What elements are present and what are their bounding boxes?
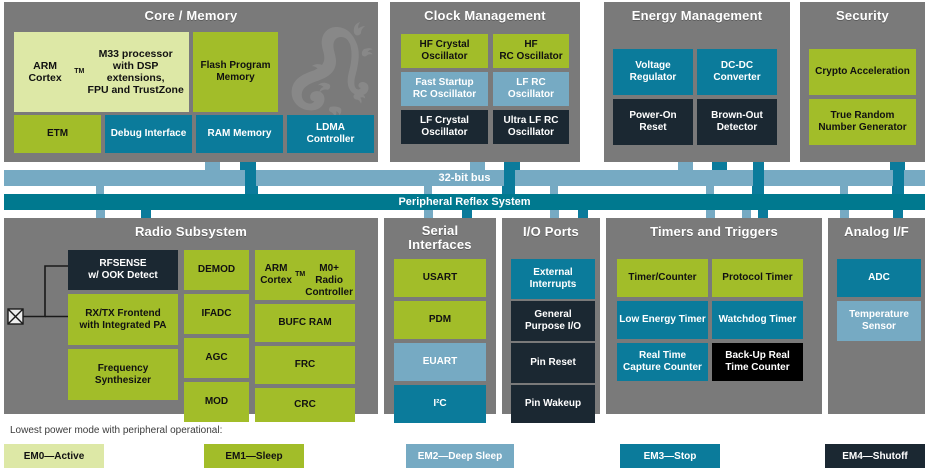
panel-title-serial-interfaces: Serial Interfaces xyxy=(384,224,496,252)
block-lf-rc-oscillator: LF RC Oscillator xyxy=(493,72,569,106)
bus-32-bit-label: 32-bit bus xyxy=(439,172,491,184)
bus-stub-analog-2 xyxy=(893,210,903,218)
block-mod: MOD xyxy=(184,382,249,422)
bus-stub-radio-1 xyxy=(96,210,105,218)
bus-peripheral-reflex-system: Peripheral Reflex System xyxy=(4,194,925,210)
block-usart: USART xyxy=(394,259,486,297)
block-debug-interface: Debug Interface xyxy=(105,115,192,153)
block-voltage-regulator: Voltage Regulator xyxy=(613,49,693,95)
bus-link-h xyxy=(840,186,848,194)
panel-title-core-memory: Core / Memory xyxy=(4,8,378,23)
block-demod: DEMOD xyxy=(184,250,249,290)
block-temperature-sensor: Temperature Sensor xyxy=(837,301,921,341)
panel-core-memory: Core / Memory ARM CortexTM M33 processor… xyxy=(4,2,378,162)
bus-stub-core-em2-top xyxy=(205,162,220,170)
block-flash-program-memory: Flash Program Memory xyxy=(193,32,278,112)
block-watchdog-timer: Watchdog Timer xyxy=(712,301,803,339)
panel-title-timers-and-triggers: Timers and Triggers xyxy=(606,224,822,239)
block-back-up-real-time-counter: Back-Up Real Time Counter xyxy=(712,343,803,381)
bus-stub-energy-top-2 xyxy=(712,162,727,170)
block-protocol-timer: Protocol Timer xyxy=(712,259,803,297)
antenna-connection-icon xyxy=(0,240,90,370)
block-frc: FRC xyxy=(255,346,355,384)
block-ultra-lf-rc-oscillator: Ultra LF RC Oscillator xyxy=(493,110,569,144)
bus-stub-io-1 xyxy=(550,210,559,218)
bus-stub-timers-3 xyxy=(758,210,768,218)
block-crypto-acceleration: Crypto Acceleration xyxy=(809,49,916,95)
legend-chip-em1-sleep: EM1—Sleep xyxy=(204,444,304,468)
panel-clock-management: Clock Management HF Crystal Oscillator H… xyxy=(390,2,580,162)
block-i2c: I²C xyxy=(394,385,486,423)
bus-stub-io-2 xyxy=(578,210,588,218)
block-diagram-canvas: Core / Memory ARM CortexTM M33 processor… xyxy=(0,0,929,473)
panel-title-energy-management: Energy Management xyxy=(604,8,790,23)
legend-chip-em3-stop: EM3—Stop xyxy=(620,444,720,468)
block-etm: ETM xyxy=(14,115,101,153)
panel-energy-management: Energy Management Voltage Regulator DC-D… xyxy=(604,2,790,162)
panel-title-clock-management: Clock Management xyxy=(390,8,580,23)
panel-io-ports: I/O Ports External Interrupts General Pu… xyxy=(502,218,600,414)
bus-stub-serial-2 xyxy=(462,210,472,218)
block-ifadc: IFADC xyxy=(184,294,249,334)
block-true-random-number-generator: True Random Number Generator xyxy=(809,99,916,145)
panel-analog-if: Analog I/F ADC Temperature Sensor xyxy=(828,218,925,414)
block-real-time-capture-counter: Real Time Capture Counter xyxy=(617,343,708,381)
bus-stub-energy-top xyxy=(678,162,693,170)
block-euart: EUART xyxy=(394,343,486,381)
legend-caption: Lowest power mode with peripheral operat… xyxy=(10,425,222,436)
bus-link-e xyxy=(550,186,558,194)
bus-stub-radio-2 xyxy=(141,210,151,218)
block-power-on-reset: Power-On Reset xyxy=(613,99,693,145)
block-timer-counter: Timer/Counter xyxy=(617,259,708,297)
panel-timers-and-triggers: Timers and Triggers Timer/Counter Protoc… xyxy=(606,218,822,414)
bus-stub-serial-1 xyxy=(424,210,433,218)
block-hf-rc-oscillator: HF RC Oscillator xyxy=(493,34,569,68)
legend-chip-em4-shutoff: EM4—Shutoff xyxy=(825,444,925,468)
block-arm-cortex-m33: ARM CortexTM M33 processor with DSP exte… xyxy=(14,32,189,112)
block-adc: ADC xyxy=(837,259,921,297)
block-dc-dc-converter: DC-DC Converter xyxy=(697,49,777,95)
block-ldma-controller: LDMA Controller xyxy=(287,115,374,153)
panel-title-security: Security xyxy=(800,8,925,23)
block-low-energy-timer: Low Energy Timer xyxy=(617,301,708,339)
bus-stub-timers-1 xyxy=(706,210,715,218)
block-fast-startup-rc-oscillator: Fast Startup RC Oscillator xyxy=(401,72,488,106)
block-brown-out-detector: Brown-Out Detector xyxy=(697,99,777,145)
block-pin-wakeup: Pin Wakeup xyxy=(511,385,595,423)
block-pdm: PDM xyxy=(394,301,486,339)
legend-chip-em0-active: EM0—Active xyxy=(4,444,104,468)
bus-link-f xyxy=(706,186,714,194)
panel-title-io-ports: I/O Ports xyxy=(502,224,600,239)
block-crc: CRC xyxy=(255,388,355,422)
bus-32-bit: 32-bit bus xyxy=(4,170,925,186)
bus-link-c xyxy=(424,186,432,194)
panel-title-radio-subsystem: Radio Subsystem xyxy=(4,224,378,239)
block-bufc-ram: BUFC RAM xyxy=(255,304,355,342)
block-lf-crystal-oscillator: LF Crystal Oscillator xyxy=(401,110,488,144)
block-hf-crystal-oscillator: HF Crystal Oscillator xyxy=(401,34,488,68)
bus-stub-clock-top xyxy=(470,162,485,170)
panel-title-analog-if: Analog I/F xyxy=(828,224,925,239)
legend-chip-em2-deep-sleep: EM2—Deep Sleep xyxy=(406,444,514,468)
block-agc: AGC xyxy=(184,338,249,378)
block-ram-memory: RAM Memory xyxy=(196,115,283,153)
gecko-watermark-icon xyxy=(288,22,374,122)
bus-prs-label: Peripheral Reflex System xyxy=(398,196,530,208)
block-external-interrupts: External Interrupts xyxy=(511,259,595,299)
bus-stub-analog-1 xyxy=(840,210,849,218)
bus-link-a xyxy=(96,186,104,194)
panel-security: Security Crypto Acceleration True Random… xyxy=(800,2,925,162)
panel-serial-interfaces: Serial Interfaces USART PDM EUART I²C xyxy=(384,218,496,414)
block-arm-cortex-m0-radio-controller: ARM CortexTM M0+ Radio Controller xyxy=(255,250,355,300)
block-general-purpose-io: General Purpose I/O xyxy=(511,301,595,341)
block-pin-reset: Pin Reset xyxy=(511,343,595,383)
bus-stub-timers-2 xyxy=(742,210,751,218)
